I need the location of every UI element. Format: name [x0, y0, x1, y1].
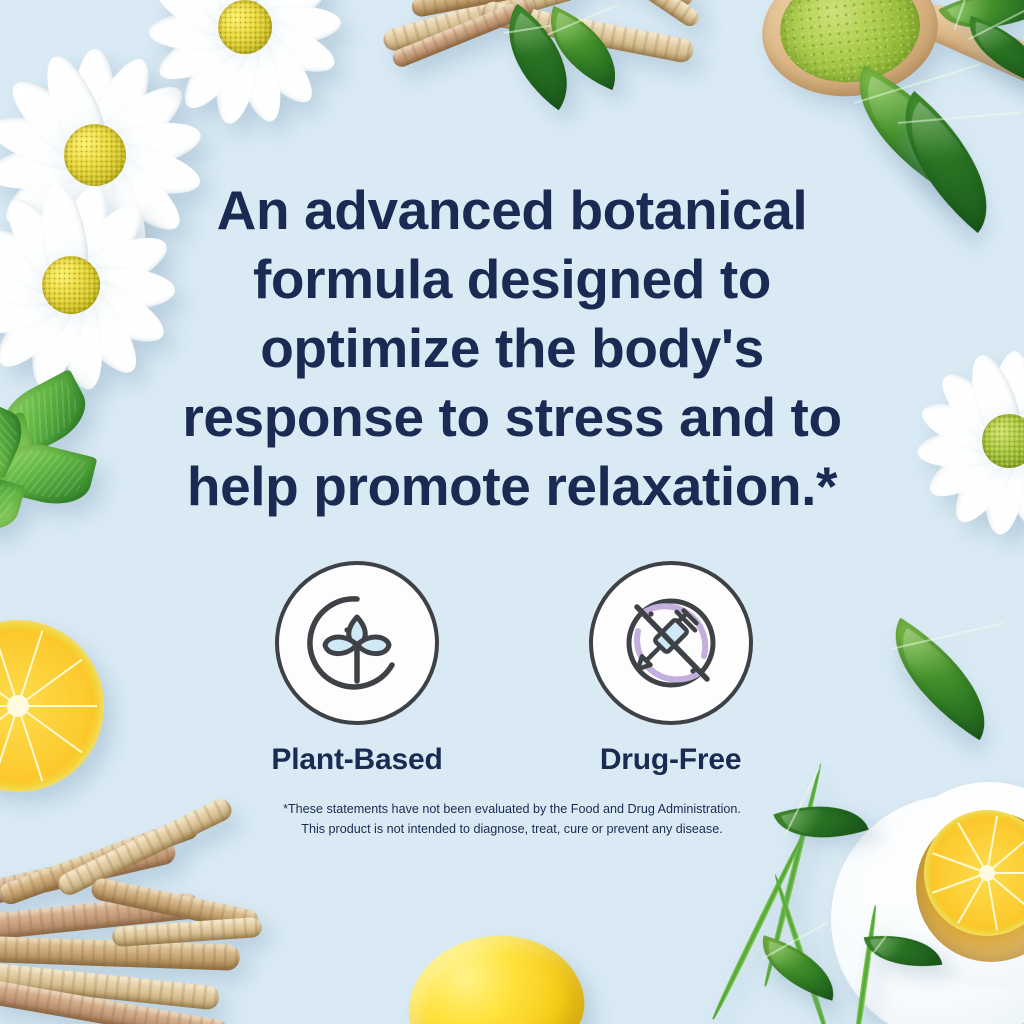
- badge-ring: [589, 561, 753, 725]
- disclaimer-line-2: This product is not intended to diagnose…: [242, 819, 782, 839]
- disclaimer: *These statements have not been evaluate…: [242, 799, 782, 840]
- badge-plant-based: Plant-Based: [271, 561, 442, 777]
- content-layer: An advanced botanical formula designed t…: [0, 0, 1024, 1024]
- badge-ring: [275, 561, 439, 725]
- plant-sprout-icon: [297, 583, 417, 703]
- badge-drug-free: Drug-Free: [589, 561, 753, 777]
- disclaimer-line-1: *These statements have not been evaluate…: [242, 799, 782, 819]
- badge-label: Plant-Based: [271, 743, 442, 777]
- page-title: An advanced botanical formula designed t…: [172, 176, 852, 521]
- badge-label: Drug-Free: [600, 743, 742, 777]
- promo-canvas: An advanced botanical formula designed t…: [0, 0, 1024, 1024]
- no-syringe-icon: [611, 583, 731, 703]
- trust-badges: Plant-Based: [271, 561, 752, 777]
